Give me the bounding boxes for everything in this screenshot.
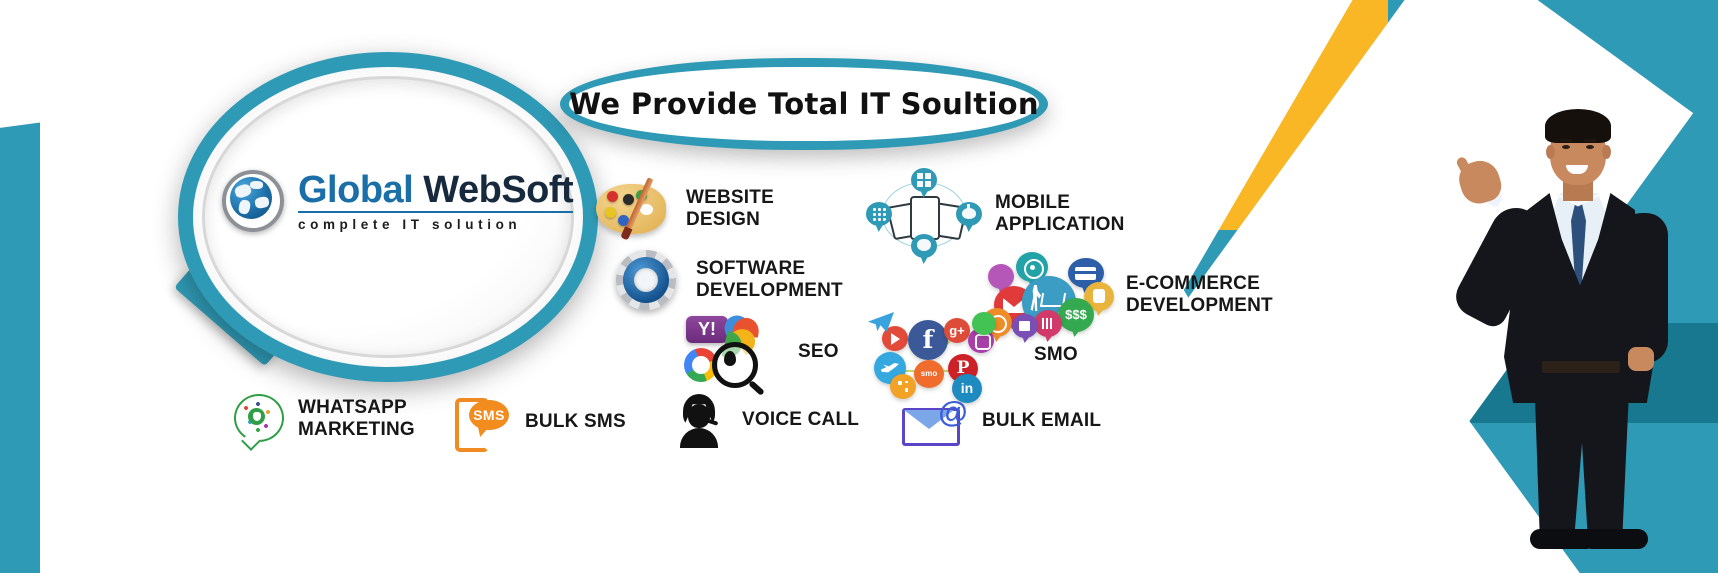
magnifier-icon [712,342,758,388]
service-whatsapp-marketing[interactable]: WHATSAPP MARKETING [232,394,415,444]
sms-icon: SMS [455,396,511,448]
social-media-icon: f g+ smo P in [868,312,998,398]
gear-icon [612,246,682,314]
service-label: SEO [798,341,839,363]
service-label: WEBSITE DESIGN [686,187,774,231]
brand-logo[interactable]: Global WebSoft complete IT solution [222,170,573,232]
brand-name-part1: Global [298,169,423,211]
service-label: SOFTWARE DEVELOPMENT [696,258,843,302]
facebook-icon: f [908,320,948,360]
brand-name-part2: WebSoft [423,169,573,211]
service-mobile-application[interactable]: MOBILE APPLICATION [866,168,1125,260]
brand-subtitle: complete IT solution [298,218,573,232]
it-services-banner: Global WebSoft complete IT solution We P… [0,0,1718,573]
devices-icon [866,168,981,260]
businessman-figure [1446,93,1676,563]
android-badge-icon [956,202,982,226]
windows-badge-icon [911,168,937,192]
whatsapp-icon [232,394,284,444]
share-icon [890,374,916,399]
whatsapp-badge-icon [972,312,996,335]
googleplus-icon: g+ [944,318,970,343]
service-voice-call[interactable]: VOICE CALL [672,394,859,446]
headline-text: We Provide Total IT Soultion [569,87,1039,121]
service-label: WHATSAPP MARKETING [298,397,415,441]
service-software-development[interactable]: SOFTWARE DEVELOPMENT [612,246,843,314]
brand-wordmark: Global WebSoft complete IT solution [298,171,573,232]
service-seo[interactable]: Y! SEO [676,312,839,392]
yahoo-icon: Y! [686,316,728,343]
palette-icon [596,178,672,240]
service-label: VOICE CALL [742,409,859,431]
magnifier-logo-frame: Global WebSoft complete IT solution [178,52,598,382]
service-label: E-COMMERCE DEVELOPMENT [1126,273,1273,317]
search-engines-icon: Y! [676,312,772,392]
blackberry-badge-icon [866,202,892,226]
headline-bubble: We Provide Total IT Soultion [560,58,1048,150]
service-bulk-email[interactable]: @ BULK EMAIL [902,398,1101,444]
headset-operator-icon [672,394,728,446]
globe-icon [222,170,284,232]
service-bulk-sms[interactable]: SMS BULK SMS [455,396,626,448]
service-label: BULK SMS [525,411,626,433]
smo-center-icon: smo [914,360,944,388]
brand-name: Global WebSoft [298,171,573,213]
apple-badge-icon [911,234,937,258]
service-label: MOBILE APPLICATION [995,192,1125,236]
sms-badge-label: SMS [469,400,509,430]
at-symbol: @ [938,398,968,428]
service-smo[interactable]: f g+ smo P in SMO [868,312,1078,398]
service-label: SMO [1034,344,1078,366]
service-label: BULK EMAIL [982,410,1101,432]
email-at-icon: @ [902,398,968,444]
service-website-design[interactable]: WEBSITE DESIGN [596,178,774,240]
